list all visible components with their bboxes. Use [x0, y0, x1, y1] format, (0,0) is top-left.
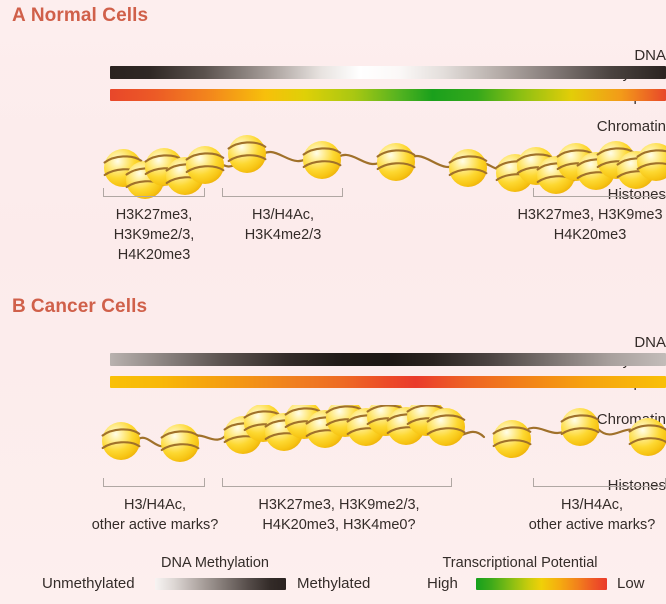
bracket-a-3: [533, 188, 666, 197]
marks-caption-a-1: H3K27me3, H3K9me2/3, H4K20me3: [90, 205, 218, 265]
nucleosome-open-right-cancer: [493, 408, 666, 458]
marks-caption-b-3: H3/H4Ac, other active marks?: [518, 495, 666, 535]
legend-transcription-high-label: Low: [617, 575, 645, 592]
marks-caption-b-2: H3K27me3, H3K9me2/3, H4K20me3, H3K4me0?: [225, 495, 453, 535]
panel-b-title-text: Cancer Cells: [31, 296, 147, 317]
panel-b-letter: B: [12, 296, 26, 317]
legend-transcription-gradient: [476, 578, 607, 590]
panel-a-letter: A: [12, 5, 26, 26]
row-label-dna-b: DNA: [566, 334, 666, 352]
dna-methylation-bar-cancer: [110, 353, 666, 366]
bracket-b-3: [533, 478, 666, 487]
transcription-bar-cancer: [110, 376, 666, 388]
legend-methylation-low-label: Unmethylated: [42, 575, 135, 592]
legend-transcription-title: Transcriptional Potential: [395, 555, 645, 571]
legend-methylation-high-label: Methylated: [297, 575, 370, 592]
marks-caption-a-3: H3K27me3, H3K9me3 H4K20me3: [505, 205, 666, 245]
nucleosome-condensed-centre-cancer: [224, 405, 465, 454]
marks-caption-a-2: H3/H4Ac, H3K4me2/3: [222, 205, 344, 245]
bracket-a-2: [222, 188, 343, 197]
panel-a-title: ANormal Cells: [12, 5, 148, 27]
panel-b-title: BCancer Cells: [12, 296, 147, 318]
nucleosome-open-region-normal: [228, 135, 487, 187]
row-label-dna-a: DNA: [566, 47, 666, 65]
marks-caption-b-1: H3/H4Ac, other active marks?: [80, 495, 230, 535]
transcription-bar-normal: [110, 89, 666, 101]
dna-methylation-bar-normal: [110, 66, 666, 79]
nucleosome-cluster-right-normal: [496, 141, 666, 194]
legend-transcription-low-label: High: [427, 575, 458, 592]
bracket-b-1: [103, 478, 205, 487]
panel-a-title-text: Normal Cells: [31, 5, 148, 26]
legend-methylation-title: DNA Methylation: [80, 555, 350, 571]
bracket-b-2: [222, 478, 452, 487]
legend-methylation-gradient: [155, 578, 286, 590]
bracket-a-1: [103, 188, 205, 197]
figure-canvas: ANormal Cells DNA Methylation Transcript…: [0, 0, 666, 604]
